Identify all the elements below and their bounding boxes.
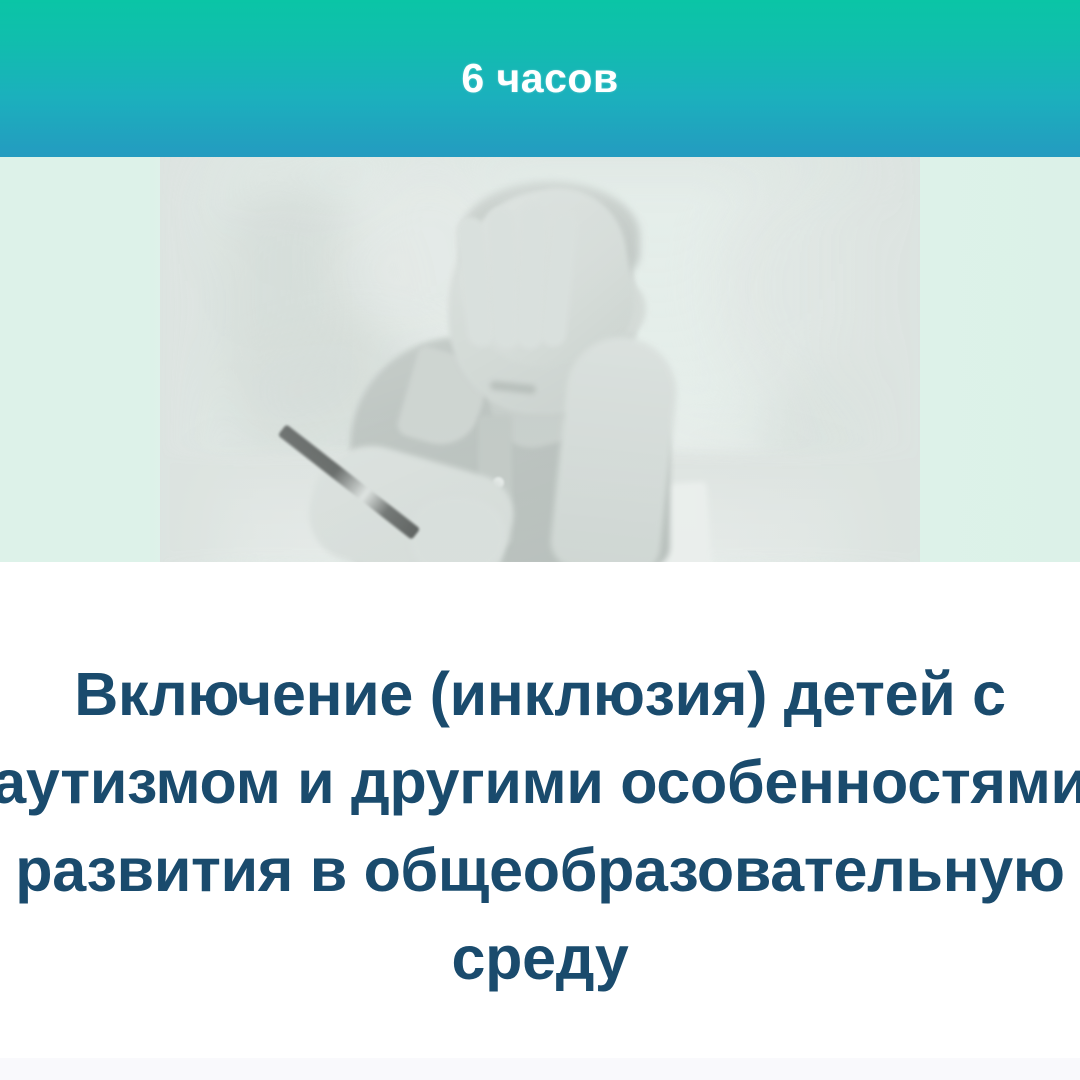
photo-boy-fist	[410, 497, 506, 562]
hero-photo-subject	[160, 157, 920, 562]
course-title-line-1: Включение (инклюзия) детей с	[0, 650, 1080, 738]
duration-label: 6 часов	[461, 58, 618, 99]
course-title-line-2: аутизмом и другими особенностями	[0, 738, 1080, 826]
bottom-divider-strip	[0, 1058, 1080, 1080]
course-title-line-4: среду	[0, 914, 1080, 1002]
course-title-line-3: развития в общеобразовательную	[0, 826, 1080, 914]
duration-banner: 6 часов	[0, 0, 1080, 157]
title-section: Включение (инклюзия) детей с аутизмом и …	[0, 562, 1080, 1058]
course-title: Включение (инклюзия) детей с аутизмом и …	[0, 650, 1080, 1002]
course-card: 6 часов	[0, 0, 1080, 1080]
hero-image	[0, 157, 1080, 562]
